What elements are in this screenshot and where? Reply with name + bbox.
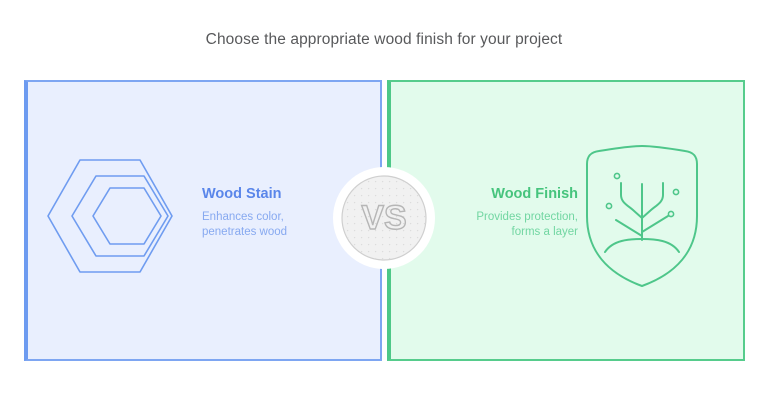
nested-hexagons-icon xyxy=(44,150,176,282)
wood-stain-subtitle-line-1: Enhances color, xyxy=(202,210,332,225)
page-title: Choose the appropriate wood finish for y… xyxy=(0,31,768,49)
wood-finish-heading: Wood Finish xyxy=(436,186,578,202)
vs-circle-badge: VS xyxy=(332,166,436,270)
wood-finish-text: Wood Finish Provides protection, forms a… xyxy=(436,186,578,240)
wood-finish-subtitle-line-2: forms a layer xyxy=(436,225,578,240)
wood-stain-subtitle-line-2: penetrates wood xyxy=(202,225,332,240)
comparison-infographic: Choose the appropriate wood finish for y… xyxy=(0,0,768,407)
vs-label: VS xyxy=(361,199,406,237)
wood-finish-subtitle: Provides protection, forms a layer xyxy=(436,210,578,240)
wood-finish-subtitle-line-1: Provides protection, xyxy=(436,210,578,225)
shield-tree-icon xyxy=(583,142,701,290)
wood-stain-text: Wood Stain Enhances color, penetrates wo… xyxy=(202,186,332,240)
wood-stain-subtitle: Enhances color, penetrates wood xyxy=(202,210,332,240)
wood-stain-heading: Wood Stain xyxy=(202,186,332,202)
